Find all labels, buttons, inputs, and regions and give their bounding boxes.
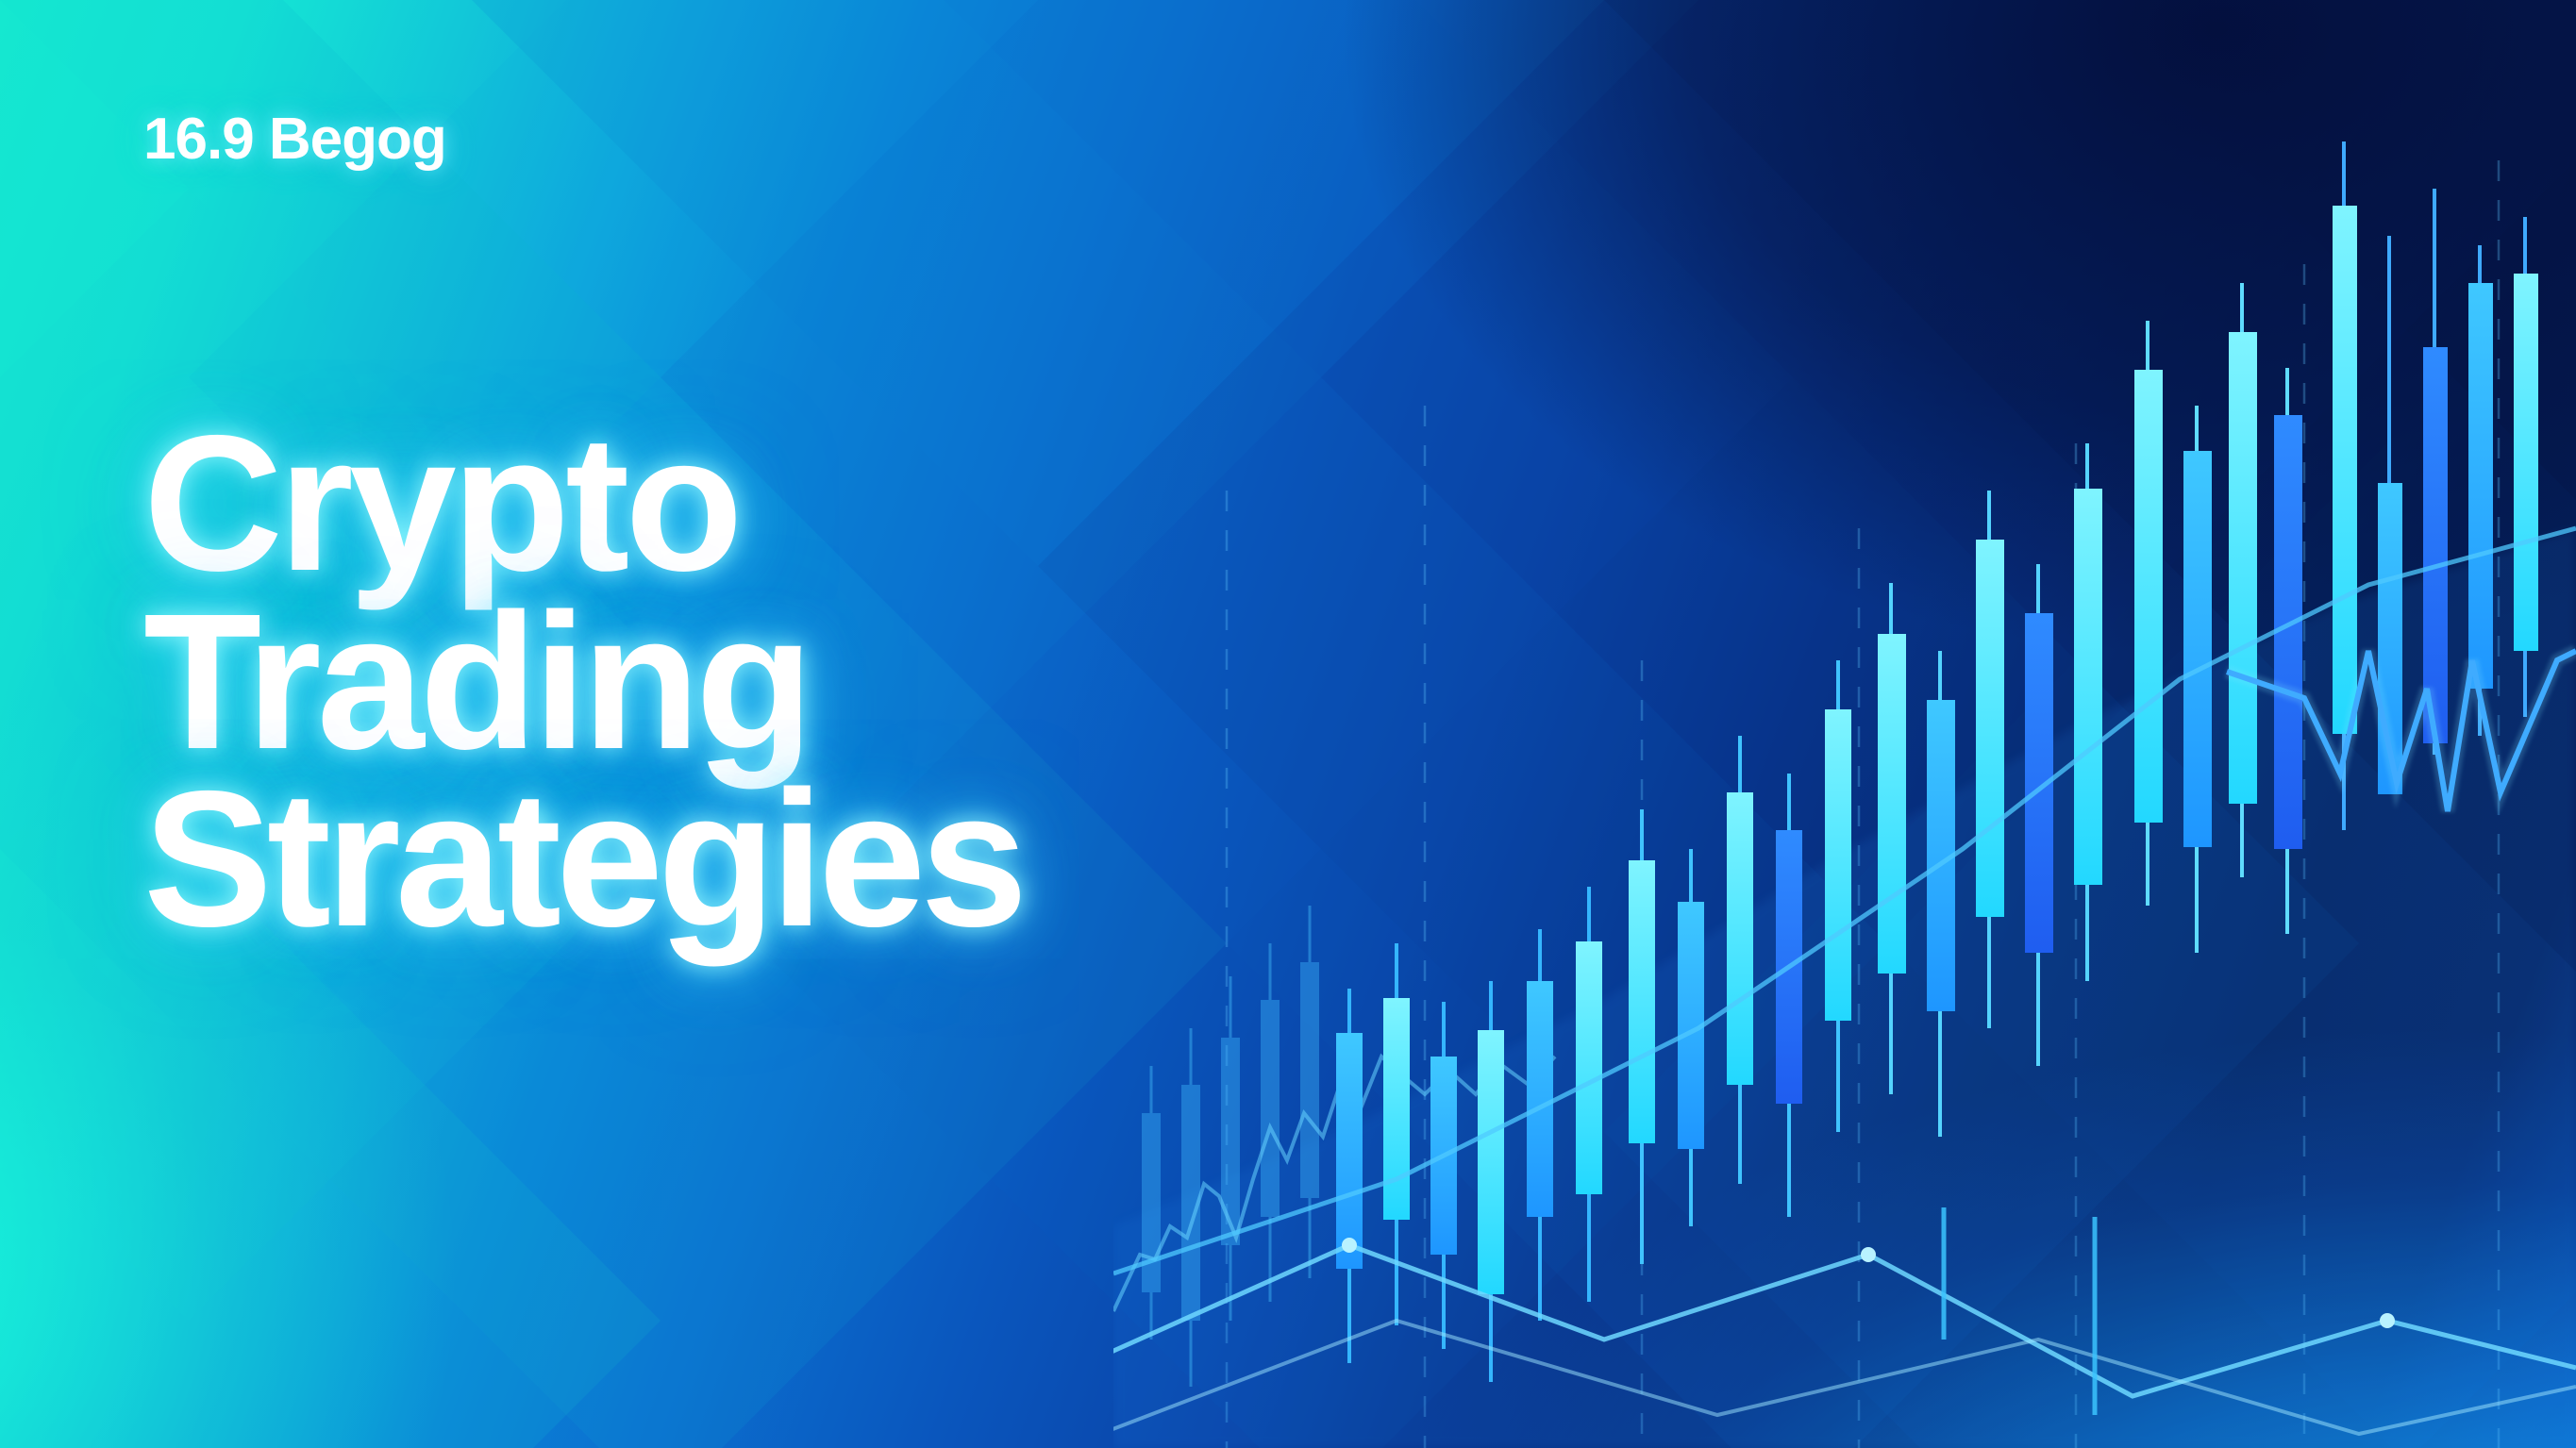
headline-line-1: Crypto Trading (143, 415, 1257, 771)
headline-line-2: Strategies (143, 771, 1257, 949)
banner-canvas: 16.9 Begog Crypto Trading Strategies (0, 0, 2576, 1448)
page-title: Crypto Trading Strategies (143, 415, 1257, 949)
candlestick-chart-svg (1113, 0, 2576, 1448)
candlestick-chart (1113, 0, 2576, 1448)
kicker-label: 16.9 Begog (143, 106, 446, 173)
